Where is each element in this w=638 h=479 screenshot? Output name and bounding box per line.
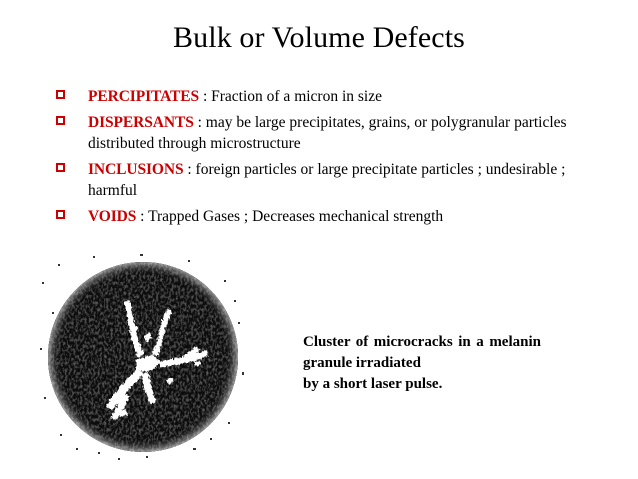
list-item: PERCIPITATES : Fraction of a micron in s… xyxy=(50,86,595,107)
bullet-keyword: PERCIPITATES xyxy=(88,88,199,105)
bullet-keyword: VOIDS xyxy=(88,208,136,225)
hollow-square-bullet-icon xyxy=(56,210,65,219)
hollow-square-bullet-icon xyxy=(56,116,65,125)
list-item: DISPERSANTS : may be large precipitates,… xyxy=(50,112,595,154)
bullet-body: : Trapped Gases ; Decreases mechanical s… xyxy=(136,208,443,225)
granule-disc xyxy=(48,262,238,452)
list-item: INCLUSIONS : foreign particles or large … xyxy=(50,159,595,201)
bullet-keyword: DISPERSANTS xyxy=(88,114,194,131)
bullet-keyword: INCLUSIONS xyxy=(88,161,183,178)
caption-line-1: Cluster of microcracks in a xyxy=(303,334,484,350)
hollow-square-bullet-icon xyxy=(56,90,65,99)
list-item: VOIDS : Trapped Gases ; Decreases mechan… xyxy=(50,206,595,227)
hollow-square-bullet-icon xyxy=(56,163,65,172)
figure-caption: Cluster of microcracks in a melanin gran… xyxy=(303,332,541,395)
defect-bullet-list: PERCIPITATES : Fraction of a micron in s… xyxy=(50,86,595,232)
bullet-body: : Fraction of a micron in size xyxy=(199,88,382,105)
slide-canvas: Bulk or Volume Defects PERCIPITATES : Fr… xyxy=(0,0,638,479)
caption-line-3: by a short laser pulse. xyxy=(303,374,541,395)
melanin-granule-figure xyxy=(38,252,248,462)
page-title: Bulk or Volume Defects xyxy=(0,20,638,56)
